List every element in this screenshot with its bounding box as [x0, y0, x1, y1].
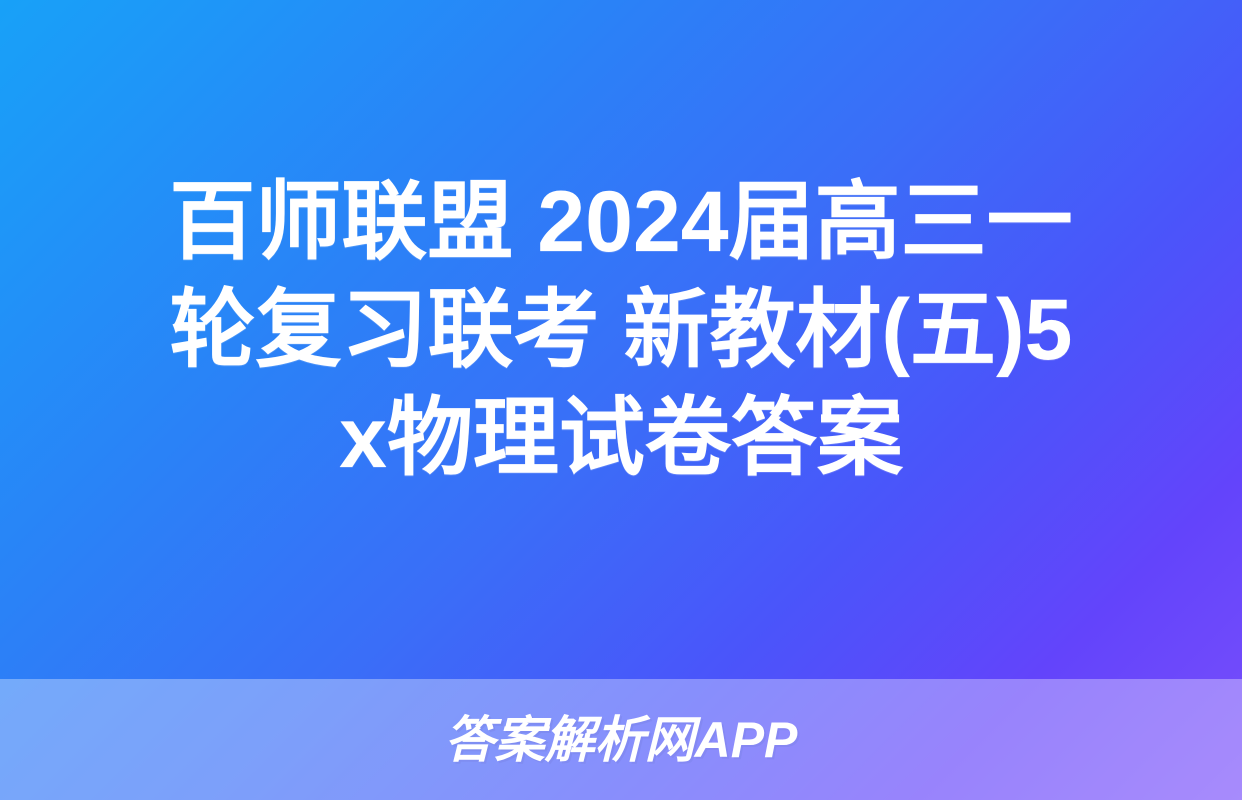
title-line-1: 百师联盟 2024届高三一 [42, 168, 1200, 276]
watermark-label: 答案解析网APP [445, 713, 798, 767]
cover-card: 百师联盟 2024届高三一 轮复习联考 新教材(五)5 x物理试卷答案 答案解析… [0, 0, 1242, 800]
watermark-band: 答案解析网APP [0, 679, 1242, 800]
title-line-3: x物理试卷答案 [42, 384, 1200, 492]
page-title: 百师联盟 2024届高三一 轮复习联考 新教材(五)5 x物理试卷答案 [0, 168, 1242, 492]
title-line-2: 轮复习联考 新教材(五)5 [42, 276, 1200, 384]
